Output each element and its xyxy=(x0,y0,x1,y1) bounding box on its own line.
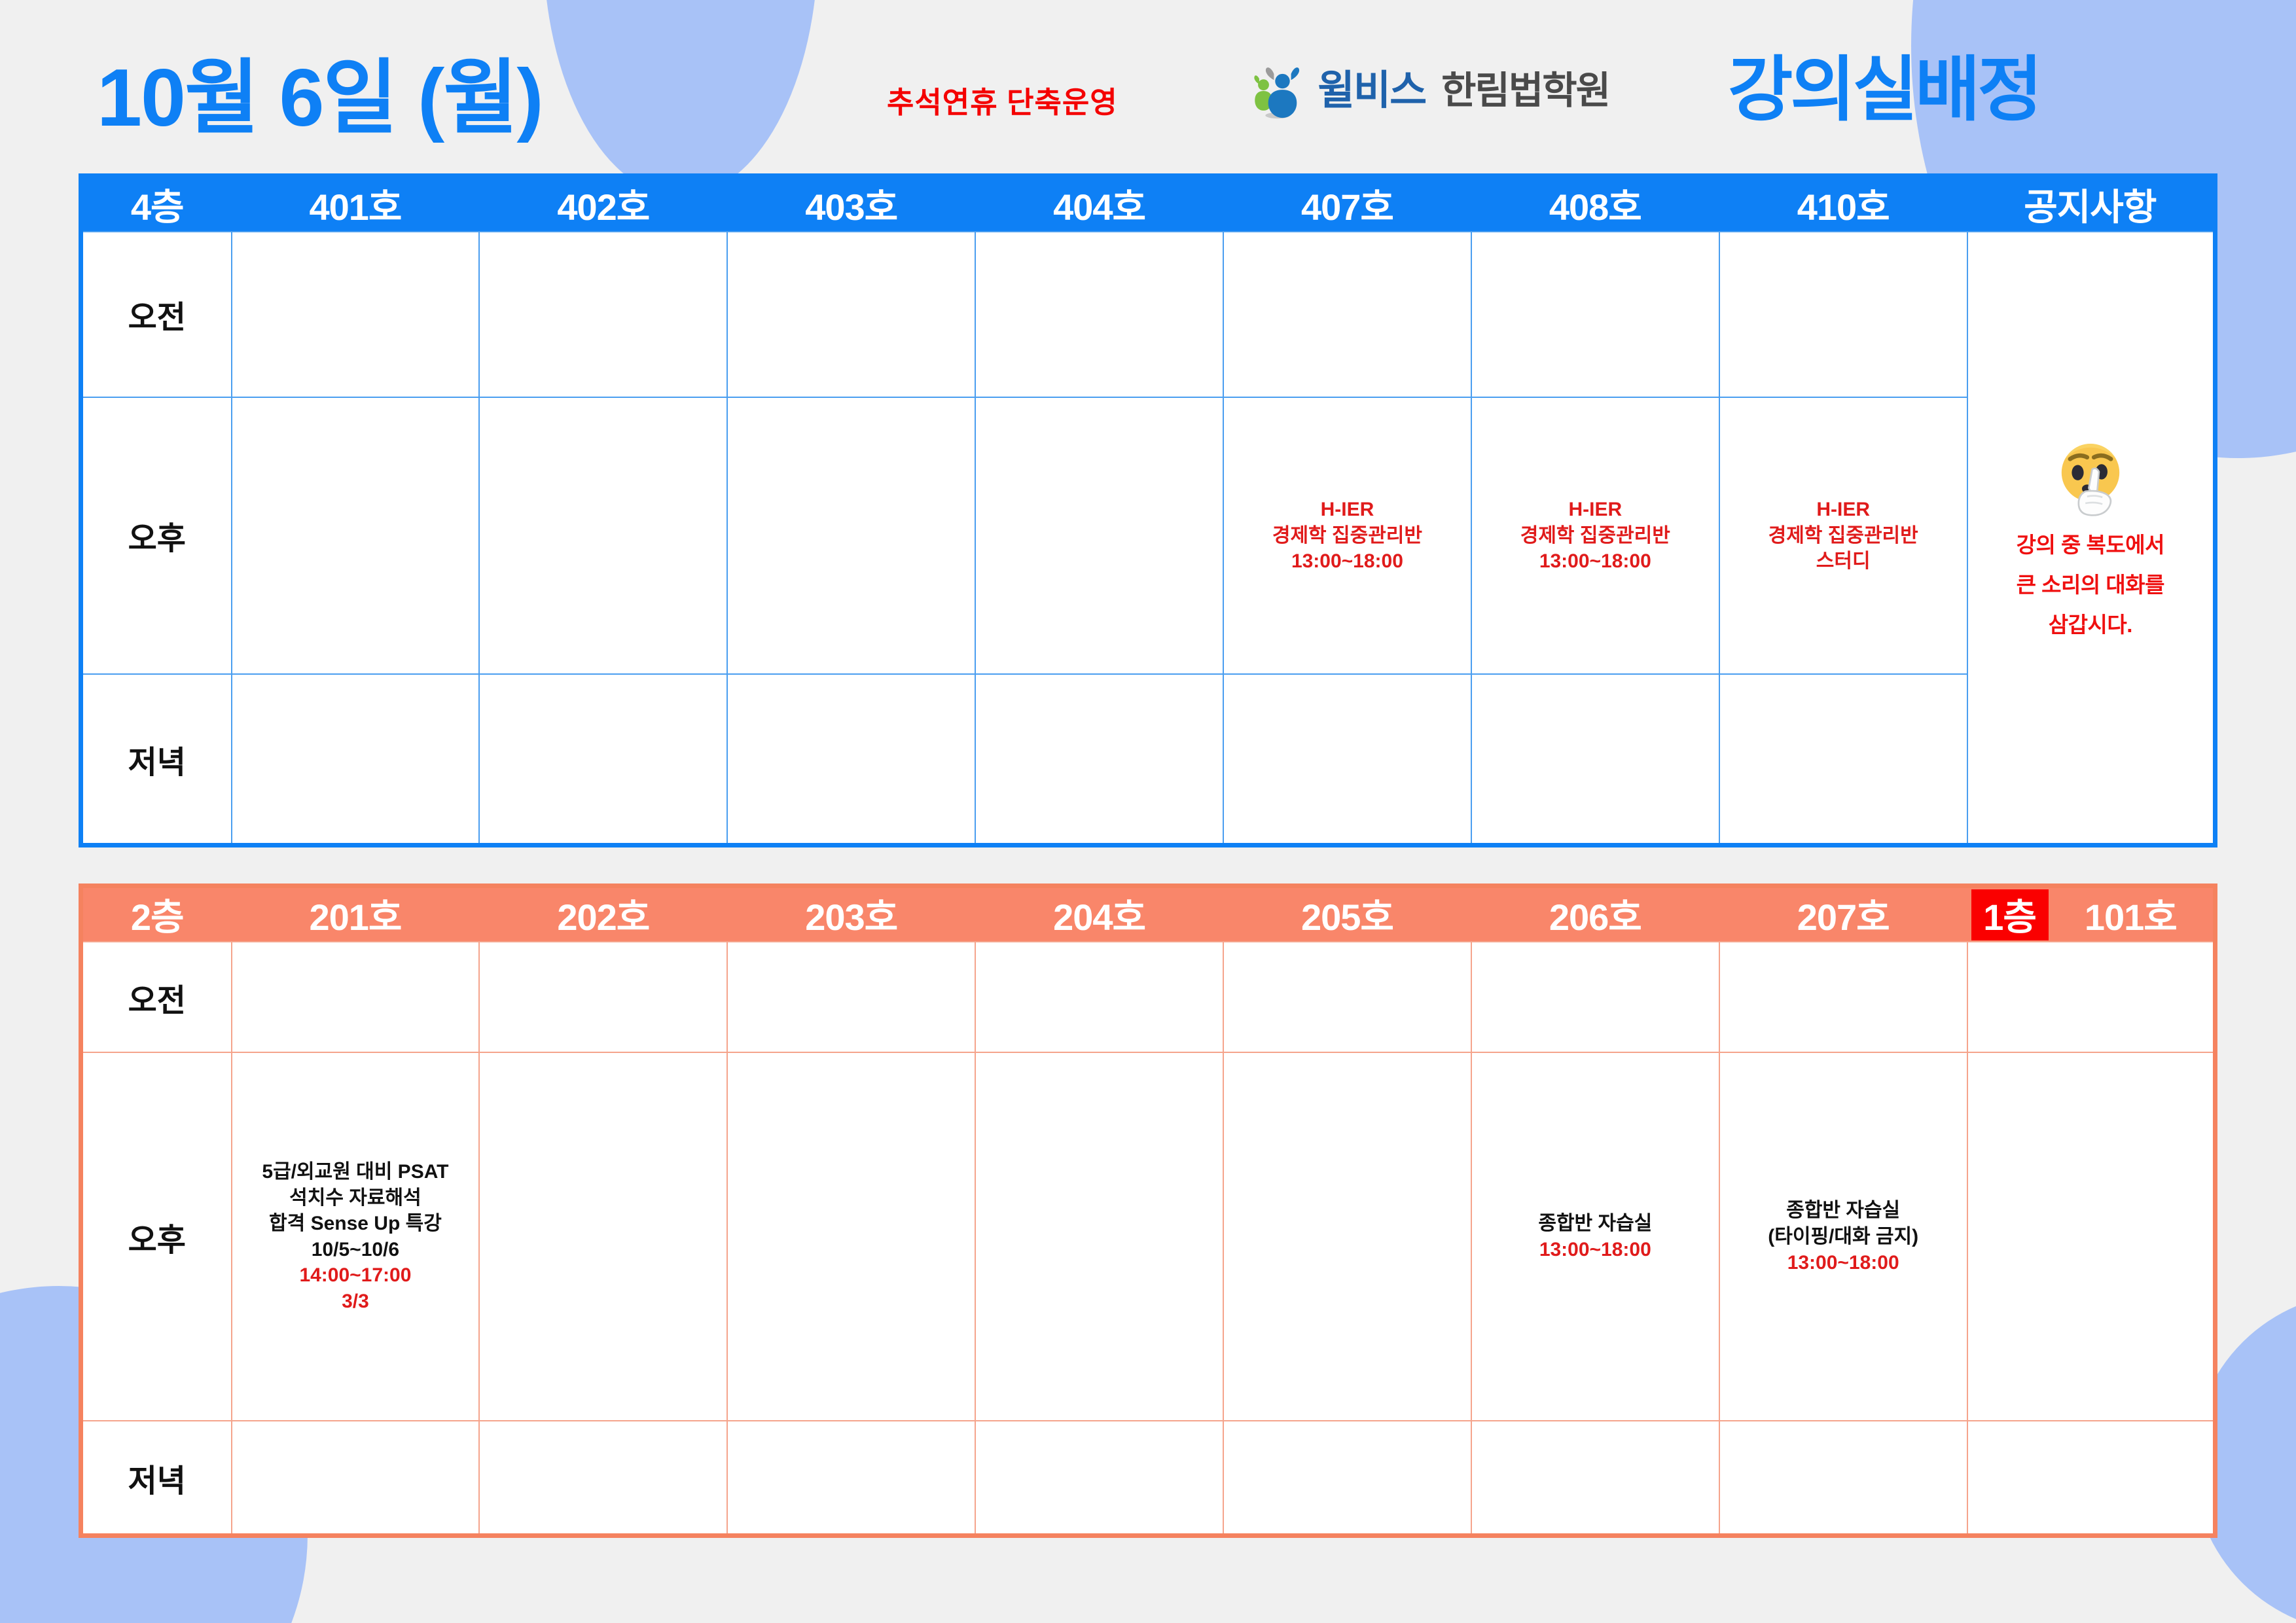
table-row-morning-4f: 오전 xyxy=(81,232,2215,397)
row-label-morning-2f: 오전 xyxy=(81,942,232,1052)
cell-4f-morning-403[interactable] xyxy=(727,232,975,397)
cell-2f-evening-204[interactable] xyxy=(975,1421,1223,1535)
class-entry-201: 5급/외교원 대비 PSAT 석치수 자료해석 합격 Sense Up 특강 1… xyxy=(232,1159,479,1315)
cell-4f-evening-401[interactable] xyxy=(232,674,480,845)
cell-2f-evening-202[interactable] xyxy=(479,1421,727,1535)
holiday-notice-text: 추석연휴 단축운영 xyxy=(887,79,1118,121)
cell-2f-morning-202[interactable] xyxy=(479,942,727,1052)
cell-2f-afternoon-201[interactable]: 5급/외교원 대비 PSAT 석치수 자료해석 합격 Sense Up 특강 1… xyxy=(232,1052,480,1421)
table-header-floor-4: 4층 401호 402호 403호 404호 407호 408호 410호 공지… xyxy=(81,176,2215,232)
schedule-table-floor-4: 4층 401호 402호 403호 404호 407호 408호 410호 공지… xyxy=(79,173,2217,847)
cell-2f-afternoon-206[interactable]: 종합반 자습실 13:00~18:00 xyxy=(1471,1052,1719,1421)
cell-4f-evening-407[interactable] xyxy=(1223,674,1471,845)
class-time: 13:00~18:00 xyxy=(1291,548,1403,575)
column-header-408: 408호 xyxy=(1471,176,1719,232)
class-entry-207: 종합반 자습실 (타이핑/대화 금지) 13:00~18:00 xyxy=(1720,1198,1967,1275)
notice-panel: 강의 중 복도에서 큰 소리의 대화를 삼갑시다. xyxy=(1967,232,2215,846)
class-code: H-IER xyxy=(1321,497,1374,523)
cell-2f-afternoon-203[interactable] xyxy=(727,1052,975,1421)
cell-4f-afternoon-404[interactable] xyxy=(975,397,1223,675)
class-date-range: 10/5~10/6 xyxy=(312,1237,399,1263)
floor-label-1f-badge: 1층 xyxy=(1971,889,2049,940)
column-header-203: 203호 xyxy=(727,886,975,942)
class-name: 경제학 집중관리반 xyxy=(1272,523,1422,549)
column-header-notice: 공지사항 xyxy=(1967,176,2215,232)
class-note: (타이핑/대화 금지) xyxy=(1768,1224,1918,1250)
cell-2f-afternoon-205[interactable] xyxy=(1223,1052,1471,1421)
cell-4f-morning-410[interactable] xyxy=(1719,232,1967,397)
table-row-evening-2f: 저녁 xyxy=(81,1421,2215,1535)
class-name: 경제학 집중관리반 xyxy=(1520,523,1670,549)
cell-1f-morning-101[interactable] xyxy=(1967,942,2215,1052)
table-body-floor-2: 오전 오후 5급/외교원 대비 PSAT 석치수 자료해석 합격 Sense U… xyxy=(81,942,2215,1536)
wb-people-logo-icon xyxy=(1247,63,1308,119)
cell-4f-afternoon-410[interactable]: H-IER 경제학 집중관리반 스터디 xyxy=(1719,397,1967,675)
class-name: 종합반 자습실 xyxy=(1538,1211,1652,1237)
cell-4f-morning-401[interactable] xyxy=(232,232,480,397)
page-date-title: 10월 6일 (월) xyxy=(97,31,543,149)
cell-2f-evening-207[interactable] xyxy=(1719,1421,1967,1535)
class-note: 스터디 xyxy=(1816,548,1871,575)
class-time: 13:00~18:00 xyxy=(1539,1237,1651,1263)
cell-2f-evening-203[interactable] xyxy=(727,1421,975,1535)
cell-1f-afternoon-101[interactable] xyxy=(1967,1052,2215,1421)
column-header-207: 207호 xyxy=(1719,886,1967,942)
cell-2f-morning-207[interactable] xyxy=(1719,942,1967,1052)
class-name: 경제학 집중관리반 xyxy=(1768,523,1918,549)
cell-4f-afternoon-403[interactable] xyxy=(727,397,975,675)
brand-name-hanlim: 한림법학원 xyxy=(1441,72,1609,110)
cell-2f-afternoon-204[interactable] xyxy=(975,1052,1223,1421)
column-header-404: 404호 xyxy=(975,176,1223,232)
brand-lockup: 윌비스 한림법학원 xyxy=(1247,63,1609,119)
schedule-table-floor-2: 2층 201호 202호 203호 204호 205호 206호 207호 1층… xyxy=(79,883,2217,1538)
class-code: H-IER xyxy=(1568,497,1622,523)
class-time: 14:00~17:00 xyxy=(299,1262,411,1289)
cell-2f-afternoon-202[interactable] xyxy=(479,1052,727,1421)
cell-4f-evening-408[interactable] xyxy=(1471,674,1719,845)
row-label-afternoon-2f: 오후 xyxy=(81,1052,232,1421)
cell-1f-evening-101[interactable] xyxy=(1967,1421,2215,1535)
table-header-floor-2: 2층 201호 202호 203호 204호 205호 206호 207호 1층… xyxy=(81,886,2215,942)
table-header-row: 4층 401호 402호 403호 404호 407호 408호 410호 공지… xyxy=(81,176,2215,232)
class-time: 13:00~18:00 xyxy=(1539,548,1651,575)
table-row-afternoon-2f: 오후 5급/외교원 대비 PSAT 석치수 자료해석 합격 Sense Up 특… xyxy=(81,1052,2215,1421)
row-label-afternoon-4f: 오후 xyxy=(81,397,232,675)
column-header-206: 206호 xyxy=(1471,886,1719,942)
column-header-205: 205호 xyxy=(1223,886,1471,942)
cell-4f-morning-404[interactable] xyxy=(975,232,1223,397)
cell-4f-morning-402[interactable] xyxy=(479,232,727,397)
class-entry-206: 종합반 자습실 13:00~18:00 xyxy=(1472,1211,1719,1262)
floor-label-2f: 2층 xyxy=(81,886,232,942)
table-header-row: 2층 201호 202호 203호 204호 205호 206호 207호 1층… xyxy=(81,886,2215,942)
column-header-401: 401호 xyxy=(232,176,480,232)
column-header-410: 410호 xyxy=(1719,176,1967,232)
page-title: 강의실배정 xyxy=(1728,33,2040,135)
column-header-204: 204호 xyxy=(975,886,1223,942)
row-label-morning-4f: 오전 xyxy=(81,232,232,397)
class-entry-410: H-IER 경제학 집중관리반 스터디 xyxy=(1720,497,1967,575)
column-header-101-group: 1층 101호 xyxy=(1967,886,2215,942)
cell-4f-afternoon-408[interactable]: H-IER 경제학 집중관리반 13:00~18:00 xyxy=(1471,397,1719,675)
class-time: 13:00~18:00 xyxy=(1787,1250,1899,1276)
cell-2f-evening-205[interactable] xyxy=(1223,1421,1471,1535)
cell-2f-afternoon-207[interactable]: 종합반 자습실 (타이핑/대화 금지) 13:00~18:00 xyxy=(1719,1052,1967,1421)
class-name: 종합반 자습실 xyxy=(1786,1198,1900,1224)
cell-4f-morning-407[interactable] xyxy=(1223,232,1471,397)
row-label-evening-4f: 저녁 xyxy=(81,674,232,845)
table-row-morning-2f: 오전 xyxy=(81,942,2215,1052)
cell-2f-morning-203[interactable] xyxy=(727,942,975,1052)
notice-line-1: 강의 중 복도에서 xyxy=(2017,531,2164,560)
class-title-line-2: 석치수 자료해석 xyxy=(289,1185,422,1211)
cell-2f-morning-205[interactable] xyxy=(1223,942,1471,1052)
cell-4f-afternoon-402[interactable] xyxy=(479,397,727,675)
cell-4f-evening-410[interactable] xyxy=(1719,674,1967,845)
class-title-line-3: 합격 Sense Up 특강 xyxy=(269,1211,442,1237)
column-header-403: 403호 xyxy=(727,176,975,232)
cell-2f-evening-206[interactable] xyxy=(1471,1421,1719,1535)
cell-4f-evening-404[interactable] xyxy=(975,674,1223,845)
shushing-face-emoji xyxy=(2048,435,2133,520)
cell-2f-morning-206[interactable] xyxy=(1471,942,1719,1052)
row-label-evening-2f: 저녁 xyxy=(81,1421,232,1535)
cell-4f-afternoon-407[interactable]: H-IER 경제학 집중관리반 13:00~18:00 xyxy=(1223,397,1471,675)
poster-header: 10월 6일 (월) 추석연휴 단축운영 윌비스 한림법학원 강의실배정 xyxy=(0,0,2296,164)
notice-line-3: 삼갑시다. xyxy=(2049,611,2132,640)
cell-2f-evening-201[interactable] xyxy=(232,1421,480,1535)
class-entry-407: H-IER 경제학 집중관리반 13:00~18:00 xyxy=(1224,497,1471,575)
schedule-poster: 10월 6일 (월) 추석연휴 단축운영 윌비스 한림법학원 강의실배정 4층 … xyxy=(0,0,2296,1623)
cell-4f-evening-402[interactable] xyxy=(479,674,727,845)
column-header-201: 201호 xyxy=(232,886,480,942)
column-header-407: 407호 xyxy=(1223,176,1471,232)
column-header-402: 402호 xyxy=(479,176,727,232)
brand-name-willbes: 윌비스 xyxy=(1318,71,1426,111)
table-row-afternoon-4f: 오후 H-IER 경제학 집중관리반 13:00~18:00 H-IER 경제학… xyxy=(81,397,2215,675)
cell-2f-morning-204[interactable] xyxy=(975,942,1223,1052)
table-row-evening-4f: 저녁 xyxy=(81,674,2215,845)
class-code: H-IER xyxy=(1816,497,1870,523)
cell-4f-morning-408[interactable] xyxy=(1471,232,1719,397)
cell-4f-afternoon-401[interactable] xyxy=(232,397,480,675)
notice-line-2: 큰 소리의 대화를 xyxy=(2017,571,2164,600)
column-header-101: 101호 xyxy=(2049,889,2213,940)
cell-2f-morning-201[interactable] xyxy=(232,942,480,1052)
table-body-floor-4: 오전 xyxy=(81,232,2215,846)
floor-label-4f: 4층 xyxy=(81,176,232,232)
class-title-line-1: 5급/외교원 대비 PSAT xyxy=(262,1159,448,1185)
class-entry-408: H-IER 경제학 집중관리반 13:00~18:00 xyxy=(1472,497,1719,575)
column-header-202: 202호 xyxy=(479,886,727,942)
class-session-count: 3/3 xyxy=(342,1289,369,1315)
cell-4f-evening-403[interactable] xyxy=(727,674,975,845)
